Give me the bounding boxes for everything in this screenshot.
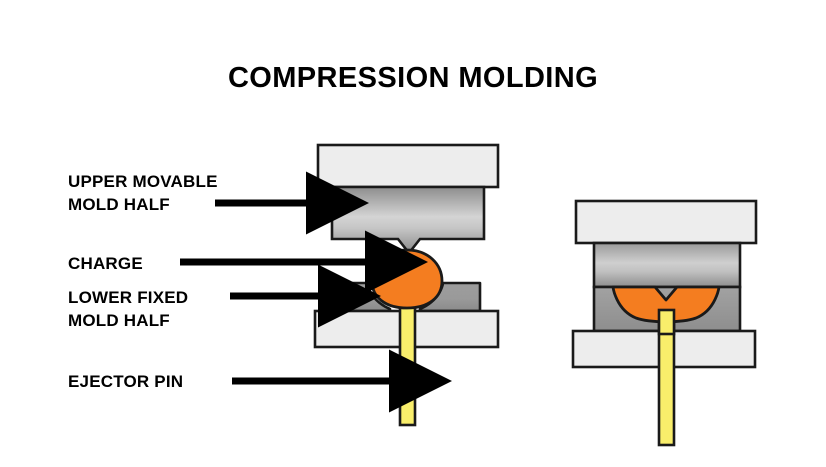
label-upper-mold-half: UPPER MOVABLE MOLD HALF	[68, 170, 218, 216]
ejector-pin	[400, 292, 415, 425]
label-upper-mold-half-line1: UPPER MOVABLE	[68, 170, 218, 193]
upper-backing-plate-closed	[576, 201, 756, 243]
upper-backing-plate	[318, 145, 498, 187]
charge-blob	[372, 250, 442, 308]
label-lower-mold-half-line1: LOWER FIXED	[68, 286, 188, 309]
label-upper-mold-half-line2: MOLD HALF	[68, 193, 218, 216]
ejector-pin-tip-closed	[659, 310, 674, 334]
upper-punch-block-closed	[594, 243, 740, 287]
page-title: COMPRESSION MOLDING	[0, 62, 826, 95]
upper-punch-block	[332, 187, 484, 253]
label-lower-mold-half-line2: MOLD HALF	[68, 309, 188, 332]
mold-closed-stage	[573, 201, 756, 445]
label-charge: CHARGE	[68, 252, 143, 275]
label-lower-mold-half: LOWER FIXED MOLD HALF	[68, 286, 188, 332]
label-ejector-pin: EJECTOR PIN	[68, 370, 183, 393]
